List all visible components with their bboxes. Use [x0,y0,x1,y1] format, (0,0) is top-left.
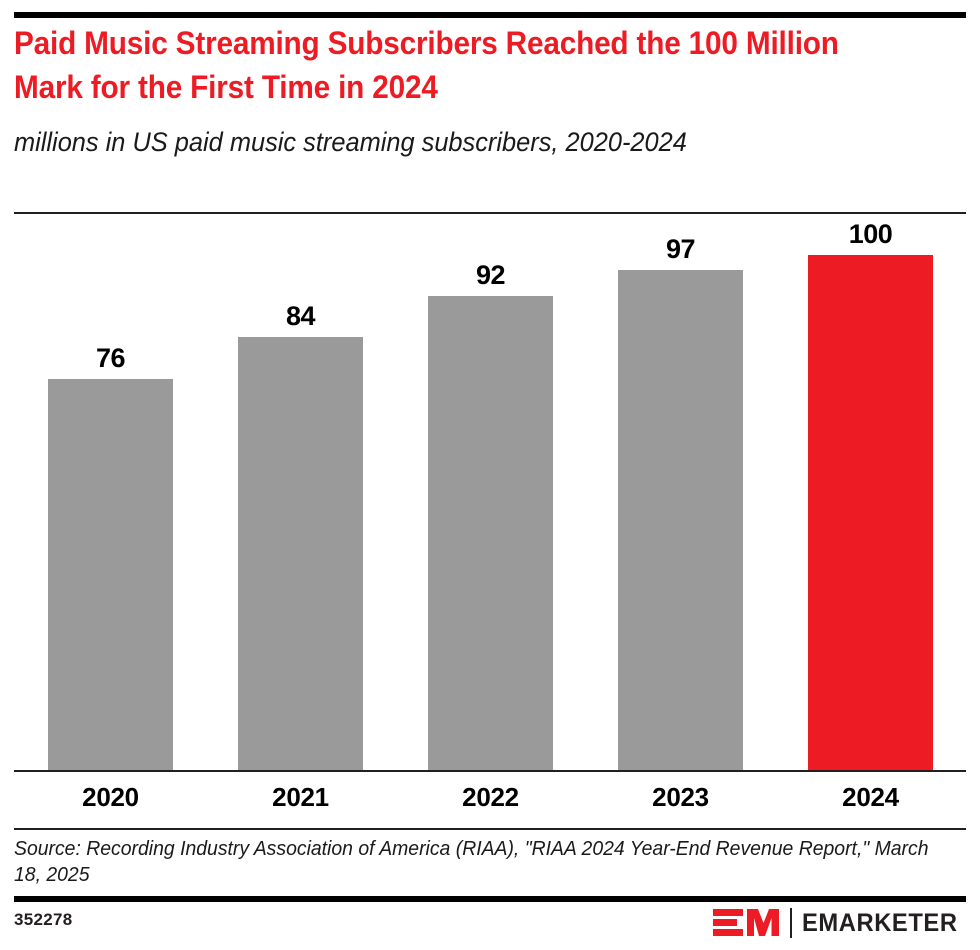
bar-2022[interactable]: 92 [428,296,553,770]
x-axis-tick-2022: 2022 [428,782,553,813]
source-note: Source: Recording Industry Association o… [14,836,936,889]
x-axis-tick-2020: 2020 [48,782,173,813]
bar-chart-plot: 76849297100 [0,0,980,772]
bar-value-label-2020: 76 [48,343,173,374]
bar-value-label-2021: 84 [238,301,363,332]
bar-rect-2021[interactable] [238,337,363,770]
x-axis-tick-2021: 2021 [238,782,363,813]
em-logo-icon [713,907,779,939]
x-axis-tick-2023: 2023 [618,782,743,813]
source-rule [14,828,966,830]
bar-rect-2022[interactable] [428,296,553,770]
logo-divider [790,908,792,938]
bar-rect-2020[interactable] [48,379,173,770]
chart-id: 352278 [14,910,73,930]
bar-rect-2023[interactable] [618,270,743,770]
axis-baseline [14,770,966,772]
bar-rect-2024[interactable] [808,255,933,770]
bar-value-label-2022: 92 [428,260,553,291]
bar-2023[interactable]: 97 [618,270,743,770]
bar-2024[interactable]: 100 [808,255,933,770]
x-axis-tick-2024: 2024 [808,782,933,813]
chart-page: Paid Music Streaming Subscribers Reached… [0,0,980,950]
bar-value-label-2023: 97 [618,234,743,265]
emarketer-logo: EMARKETER [713,906,966,940]
footer-rule [14,896,966,902]
bar-value-label-2024: 100 [808,219,933,250]
bar-2020[interactable]: 76 [48,379,173,770]
logo-wordmark: EMARKETER [802,911,958,936]
bar-2021[interactable]: 84 [238,337,363,770]
